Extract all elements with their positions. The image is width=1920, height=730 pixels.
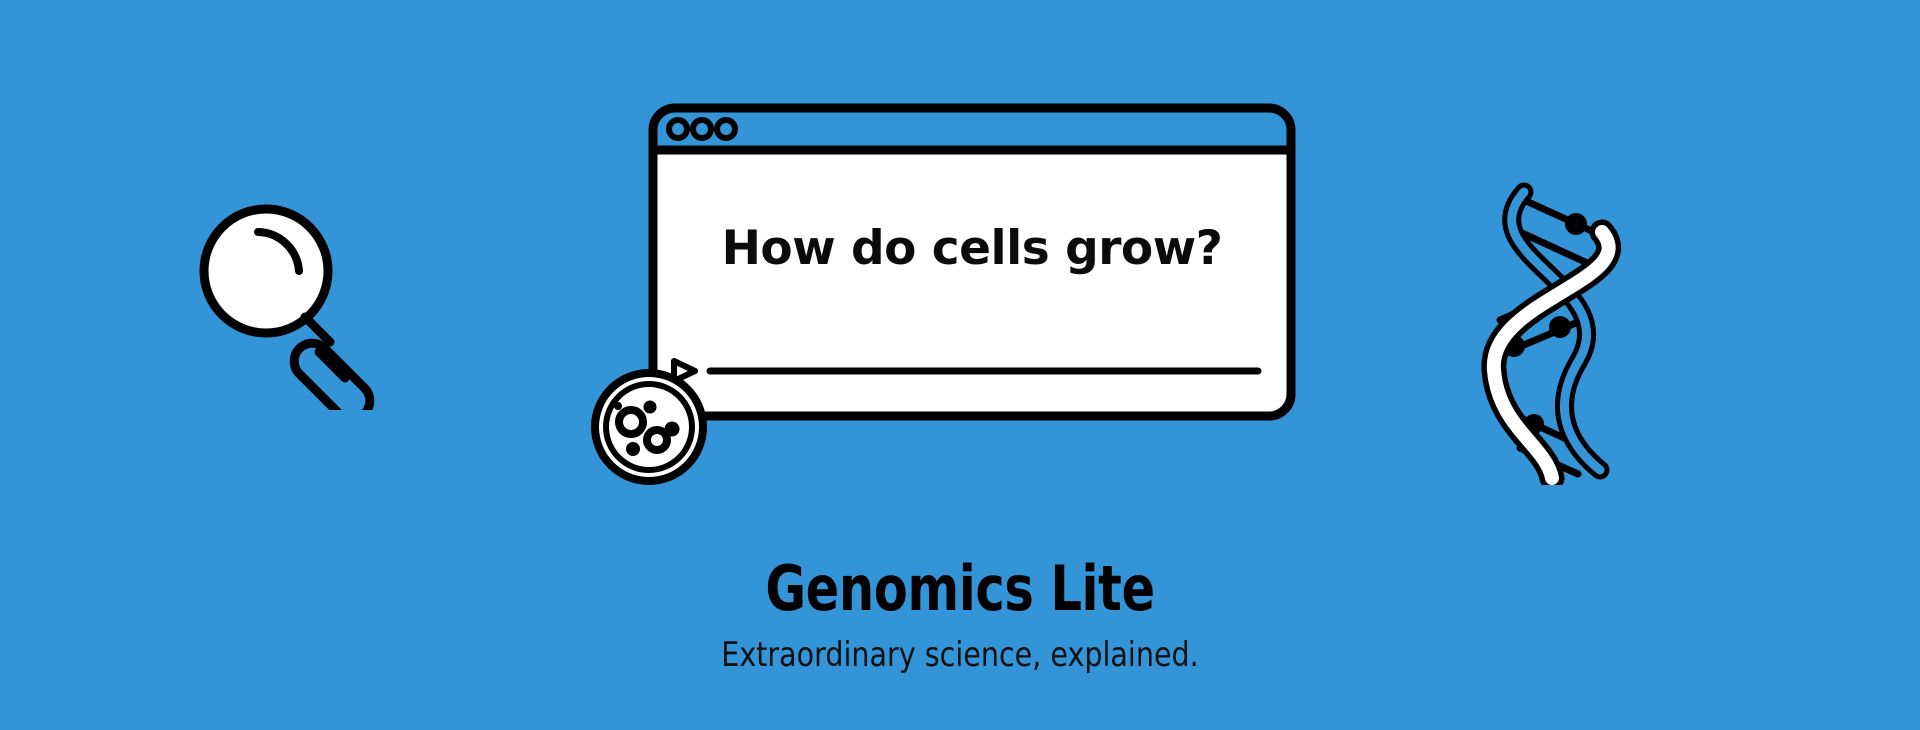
petri-cell-ring-1 [619,410,643,434]
petri-dish-icon [588,366,710,488]
window-dot-2[interactable] [693,120,711,138]
magnifying-glass-icon [180,185,410,410]
magnifying-glass-svg [180,185,410,410]
magnifier-lens [204,209,328,333]
petri-cell-solid-2 [665,422,680,437]
browser-mock-window[interactable]: How do cells grow? [648,103,1296,421]
window-dot-1[interactable] [669,120,687,138]
page-title: Genomics Lite [192,558,1728,620]
petri-cell-solid-1 [644,401,657,414]
magnifier-handle [287,336,378,410]
brand-wordmark: Genomics Lite Extraordinary science, exp… [0,558,1920,672]
petri-cell-solid-3 [626,442,640,456]
page-tagline: Extraordinary science, explained. [154,638,1767,672]
dna-svg [1428,170,1663,485]
dna-double-helix-icon [1428,170,1663,485]
magnifier-neck [305,317,330,342]
window-content-area [653,150,1291,416]
browser-window-frame [648,103,1296,421]
petri-cell-solid-4 [614,402,622,410]
hero-banner: How do cells grow? [0,0,1920,730]
petri-dish-svg [588,366,710,488]
petri-cell-ring-2 [647,430,667,450]
window-dot-3[interactable] [717,120,735,138]
